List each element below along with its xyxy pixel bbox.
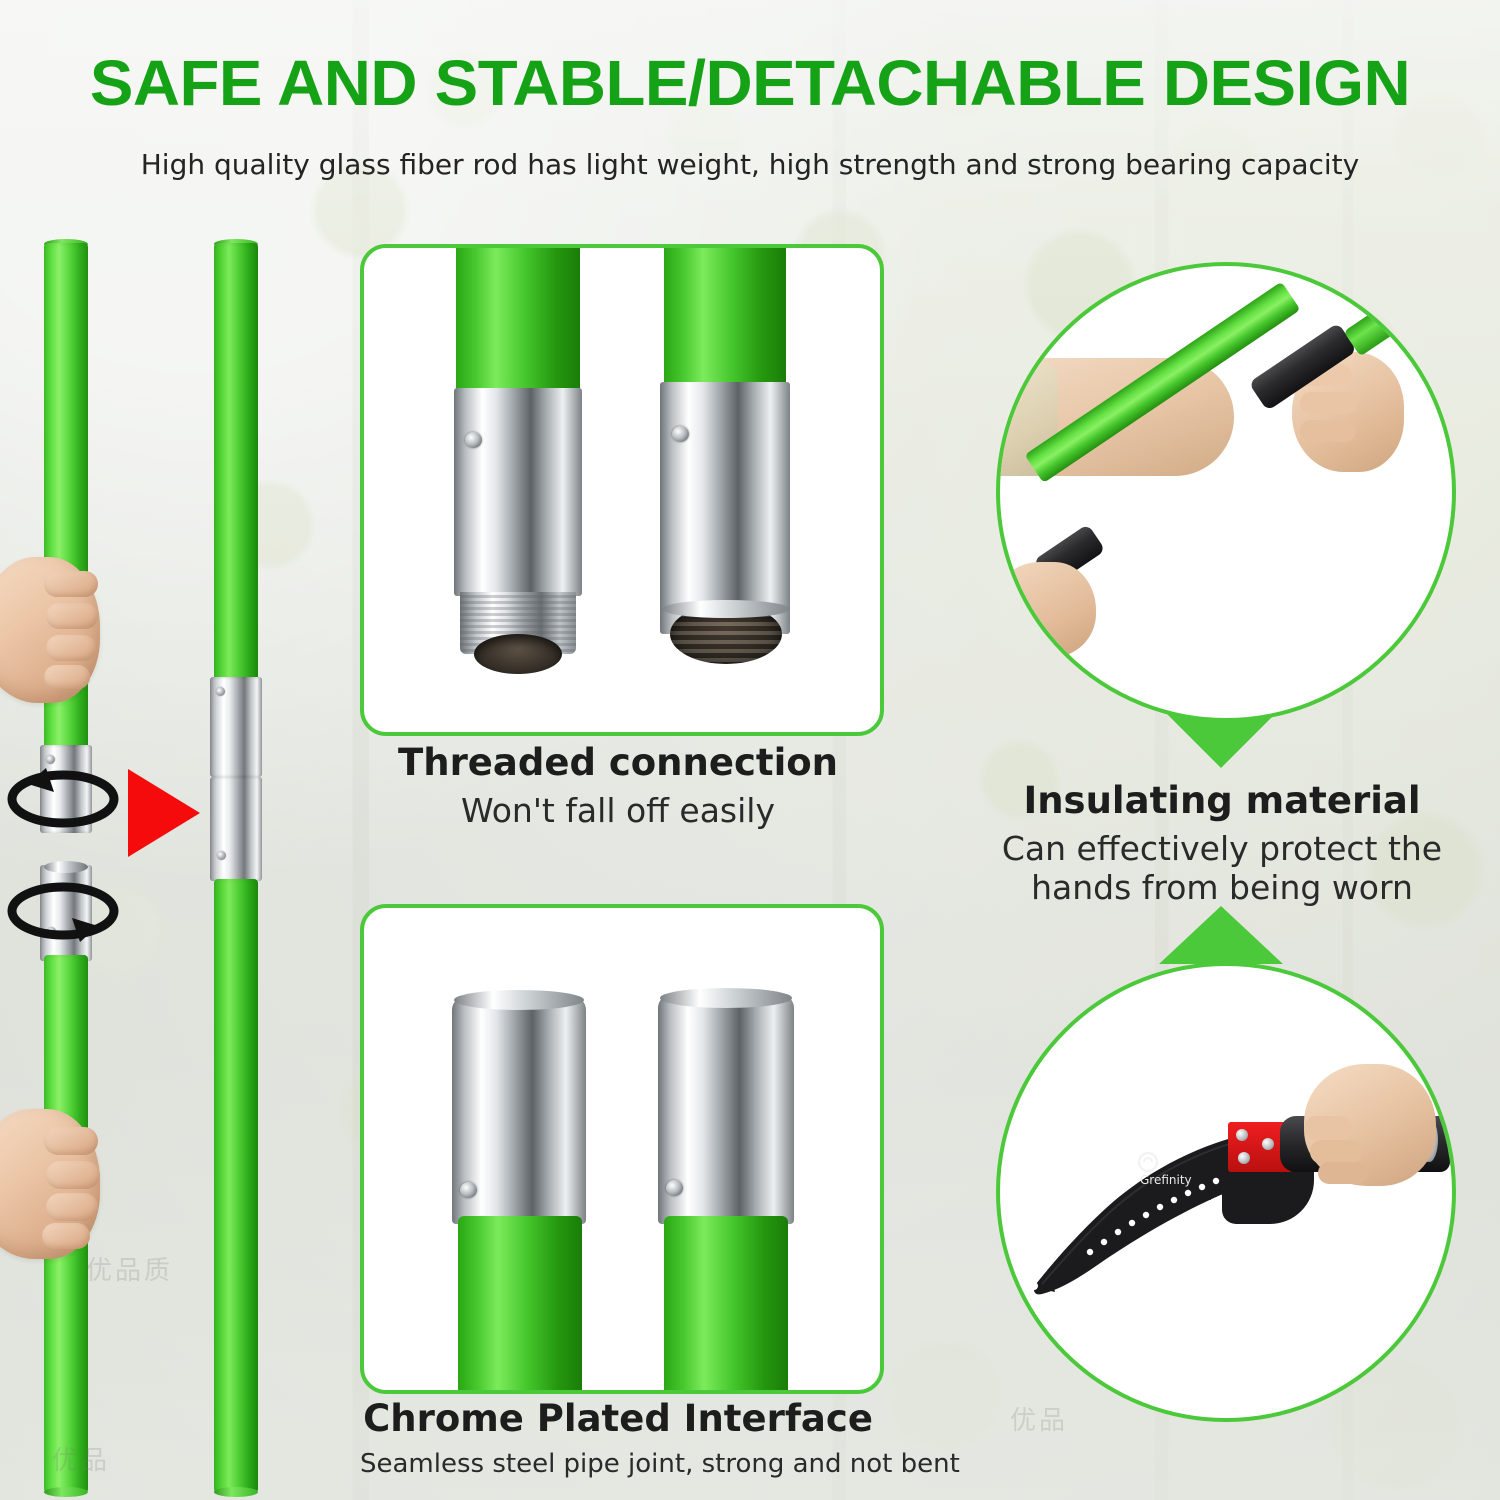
rod-left-green xyxy=(458,1216,582,1394)
pole-b-upper-rod xyxy=(214,243,258,683)
red-right-arrow-icon xyxy=(128,769,200,857)
insulating-material-caption: Insulating material Can effectively prot… xyxy=(986,780,1458,908)
finger xyxy=(46,603,98,629)
rotate-arrow-icon xyxy=(2,878,124,948)
page-title: SAFE AND STABLE/DETACHABLE DESIGN xyxy=(0,46,1500,120)
collar-left xyxy=(452,996,586,1224)
finger xyxy=(42,1223,90,1249)
finger xyxy=(46,1161,100,1189)
collar-right-rim xyxy=(660,988,792,1008)
pole-b-chrome-joint-upper xyxy=(210,677,262,777)
chrome-interface-caption: Chrome Plated Interface Seamless steel p… xyxy=(360,1398,876,1480)
insulating-material-subtext-line2: hands from being worn xyxy=(986,868,1458,908)
rod-right-green xyxy=(664,1216,788,1394)
chrome-interface-subtext: Seamless steel pipe joint, strong and no… xyxy=(360,1449,876,1480)
threaded-connection-heading: Threaded connection xyxy=(360,742,876,785)
pole-b-bottom-cap xyxy=(214,1487,258,1497)
bolt xyxy=(1236,1129,1248,1141)
pipe-right-ferrule xyxy=(660,382,790,634)
saw-blade-photo: Grefinity xyxy=(996,962,1456,1422)
finger xyxy=(44,571,98,597)
finger xyxy=(46,1193,98,1221)
pole-b-chrome-joint-lower xyxy=(210,777,262,881)
hand-lower-grip xyxy=(996,562,1096,658)
pole-assembly-illustration xyxy=(0,225,350,1500)
chrome-interface-card xyxy=(360,904,884,1394)
chrome-interface-heading: Chrome Plated Interface xyxy=(360,1398,876,1441)
finger xyxy=(1318,1162,1368,1184)
insulating-material-photo xyxy=(996,262,1456,722)
page-subtitle: High quality glass fiber rod has light w… xyxy=(0,148,1500,181)
pole-a-bottom-cap xyxy=(44,1487,88,1497)
pole-b-lower-rod xyxy=(214,879,258,1493)
finger xyxy=(1300,392,1358,414)
bolt xyxy=(1262,1138,1274,1150)
pipe-left-bore xyxy=(474,634,562,674)
pole-a-socket-rim xyxy=(44,861,88,873)
collar-right xyxy=(658,994,794,1224)
finger xyxy=(1310,1140,1362,1164)
svg-text:Grefinity: Grefinity xyxy=(1140,1173,1192,1187)
threaded-connection-card xyxy=(360,244,884,736)
bolt xyxy=(1238,1152,1250,1164)
finger xyxy=(1300,420,1356,442)
rotate-arrow-icon xyxy=(2,762,124,832)
pipe-left-ferrule xyxy=(454,388,582,596)
insulating-material-heading: Insulating material xyxy=(986,780,1458,823)
collar-left-rim xyxy=(454,990,584,1010)
pipe-right-green xyxy=(664,244,786,384)
pipe-left-green xyxy=(456,244,580,392)
insulating-material-subtext-line1: Can effectively protect the xyxy=(986,829,1458,869)
finger xyxy=(44,665,90,689)
finger xyxy=(44,1127,98,1155)
pipe-right-rim xyxy=(662,600,790,618)
threaded-connection-subtext: Won't fall off easily xyxy=(360,791,876,831)
infographic-canvas: SAFE AND STABLE/DETACHABLE DESIGN High q… xyxy=(0,0,1500,1500)
finger xyxy=(46,635,96,661)
saw-chevron-icon xyxy=(1159,906,1283,964)
finger xyxy=(1304,1116,1352,1140)
threaded-connection-caption: Threaded connection Won't fall off easil… xyxy=(360,742,876,830)
